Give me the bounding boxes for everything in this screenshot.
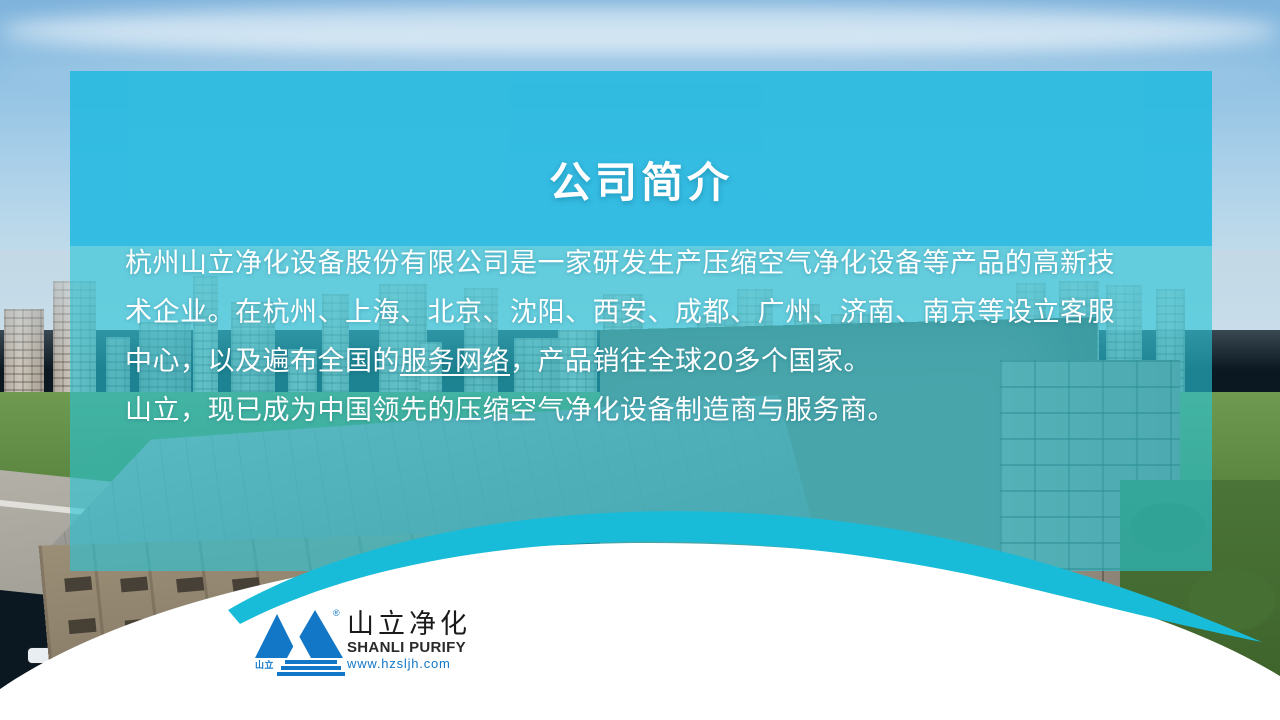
body-text: 杭州山立净化设备股份有限公司是一家研发生产压缩空气净化设备等产品的高新技 术企业…	[125, 239, 1160, 435]
company-logo: 山立 ® 山立净化 SHANLI PURIFY www.hzsljh.com	[255, 606, 465, 684]
footer-white-base	[0, 700, 1280, 720]
logo-wordmark: 山立净化 SHANLI PURIFY www.hzsljh.com	[347, 610, 477, 671]
body-line-3-after: ，产品销往全球20多个国家。	[510, 346, 871, 376]
logo-mark-label: 山立	[255, 658, 274, 671]
body-line-1: 杭州山立净化设备股份有限公司是一家研发生产压缩空气净化设备等产品的高新技	[125, 239, 1160, 288]
logo-name-cn: 山立净化	[347, 610, 477, 639]
body-line-2: 术企业。在杭州、上海、北京、沈阳、西安、成都、广州、济南、南京等设立客服	[125, 288, 1160, 337]
logo-website: www.hzsljh.com	[347, 656, 477, 671]
registered-trademark-icon: ®	[333, 608, 340, 618]
cyan-swoosh-decoration	[0, 490, 1280, 690]
body-line-3-before: 中心，以及遍布全国的	[125, 346, 400, 376]
page-title: 公司简介	[70, 149, 1212, 210]
body-line-4: 山立，现已成为中国领先的压缩空气净化设备制造商与服务商。	[125, 386, 1160, 435]
body-line-3: 中心，以及遍布全国的服务网络，产品销往全球20多个国家。	[125, 337, 1160, 386]
logo-name-en: SHANLI PURIFY	[347, 639, 477, 656]
presentation-slide: 公司简介 杭州山立净化设备股份有限公司是一家研发生产压缩空气净化设备等产品的高新…	[0, 0, 1280, 720]
cloud-band	[0, 30, 1280, 56]
body-line-3-underlined: 服务网络	[400, 346, 510, 376]
